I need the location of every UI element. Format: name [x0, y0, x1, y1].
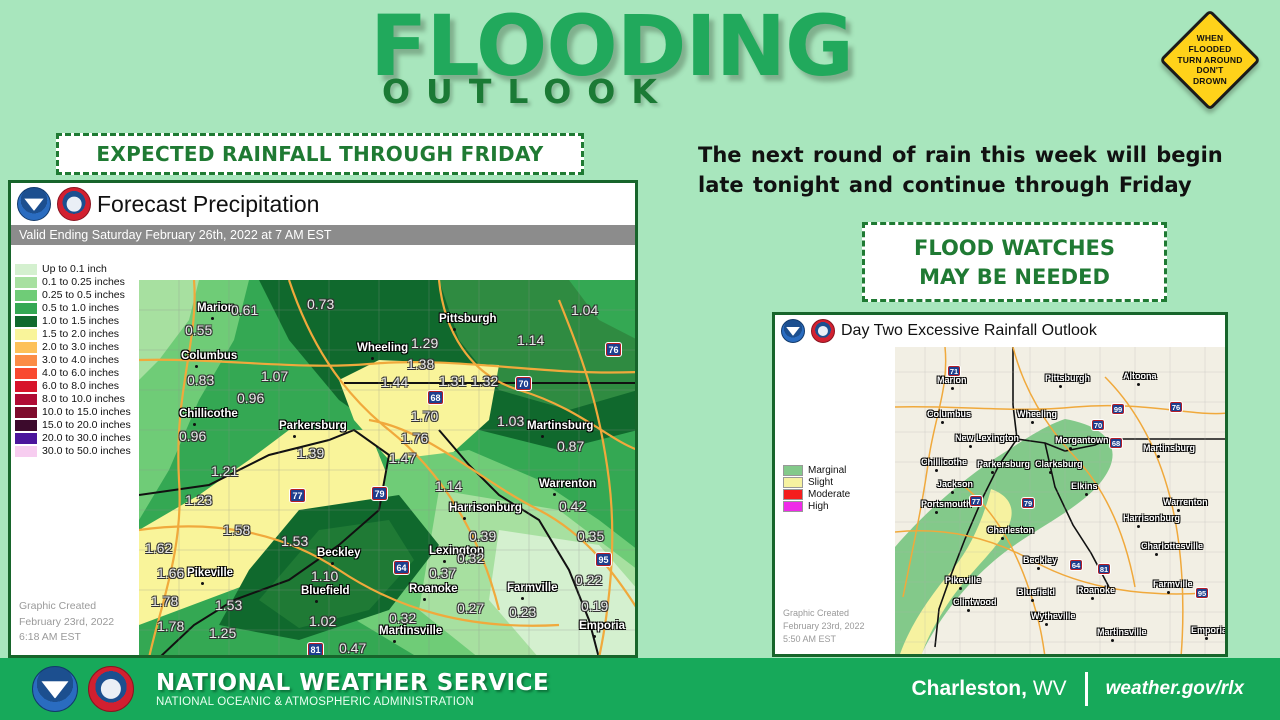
city-label: Beckley	[317, 547, 360, 559]
legend-swatch	[783, 489, 803, 500]
precipitation-value: 0.19	[581, 598, 608, 614]
city-marker-dot	[423, 598, 426, 601]
legend-row: 20.0 to 30.0 inches	[15, 432, 135, 444]
legend-label: Up to 0.1 inch	[42, 263, 107, 275]
flood-watches-line-1: FLOOD WATCHES	[914, 236, 1115, 260]
ero-map-header: Day Two Excessive Rainfall Outlook	[775, 315, 1225, 347]
legend-label: High	[808, 501, 829, 512]
city-label: Bluefield	[1017, 587, 1055, 597]
city-marker-dot	[951, 491, 954, 494]
agency-text: NATIONAL WEATHER SERVICE NATIONAL OCEANI…	[156, 670, 549, 708]
city-marker-dot	[1155, 553, 1158, 556]
precipitation-value: 0.37	[429, 565, 456, 581]
expected-rainfall-callout: EXPECTED RAINFALL THROUGH FRIDAY	[56, 133, 584, 175]
city-label: Clarksburg	[1035, 459, 1083, 469]
city-marker-dot	[991, 471, 994, 474]
city-marker-dot	[201, 582, 204, 585]
city-marker-dot	[1205, 637, 1208, 640]
city-label: Charlottesville	[1141, 541, 1203, 551]
precipitation-value: 1.78	[151, 593, 178, 609]
city-label: Altoona	[1123, 371, 1157, 381]
city-marker-dot	[935, 511, 938, 514]
city-label: Elkins	[1071, 481, 1098, 491]
city-marker-dot	[463, 517, 466, 520]
footer-bar: NATIONAL WEATHER SERVICE NATIONAL OCEANI…	[0, 658, 1280, 720]
legend-row: 1.5 to 2.0 inches	[15, 328, 135, 340]
legend-label: 0.1 to 0.25 inches	[42, 276, 125, 288]
city-marker-dot	[941, 421, 944, 424]
city-label: Jackson	[937, 479, 973, 489]
precipitation-value: 1.32	[471, 373, 498, 389]
ero-created-line-1: Graphic Created	[783, 607, 865, 620]
sign-line-3: TURN AROUND	[1177, 55, 1242, 66]
city-label: Chillicothe	[179, 408, 238, 420]
precipitation-value: 1.70	[411, 408, 438, 424]
city-marker-dot	[293, 435, 296, 438]
legend-label: 1.5 to 2.0 inches	[42, 328, 119, 340]
precipitation-value: 0.83	[187, 372, 214, 388]
legend-row: Slight	[783, 477, 895, 488]
footer-branding: NATIONAL WEATHER SERVICE NATIONAL OCEANI…	[0, 666, 549, 712]
nws-logo-icon	[57, 187, 91, 221]
interstate-shield-icon: 70	[1091, 419, 1105, 431]
legend-swatch	[15, 290, 37, 301]
legend-row: Moderate	[783, 489, 895, 500]
qpf-map-canvas: MarionColumbusChillicothePittsburghWheel…	[139, 280, 638, 658]
precipitation-value: 1.78	[157, 618, 184, 634]
precipitation-value: 0.96	[237, 390, 264, 406]
city-marker-dot	[211, 317, 214, 320]
interstate-shield-icon: 70	[515, 376, 532, 391]
legend-swatch	[15, 381, 37, 392]
city-label: Beckley	[1023, 555, 1057, 565]
city-marker-dot	[1137, 383, 1140, 386]
city-label: Roanoke	[409, 583, 458, 595]
city-marker-dot	[1059, 385, 1062, 388]
qpf-created-stamp: Graphic Created February 23rd, 2022 6:18…	[19, 599, 114, 645]
interstate-shield-icon: 71	[947, 365, 961, 377]
nws-logo-icon	[88, 666, 134, 712]
city-marker-dot	[1049, 471, 1052, 474]
legend-label: Moderate	[808, 489, 850, 500]
city-marker-dot	[193, 423, 196, 426]
city-label: Warrenton	[539, 478, 596, 490]
city-marker-dot	[969, 445, 972, 448]
legend-row: 30.0 to 50.0 inches	[15, 445, 135, 457]
interstate-shield-icon: 64	[393, 560, 410, 575]
turn-around-dont-drown-sign: WHEN FLOODED TURN AROUND DON'T DROWN	[1158, 8, 1262, 112]
legend-swatch	[15, 342, 37, 353]
legend-label: 3.0 to 4.0 inches	[42, 354, 119, 366]
legend-row: 0.1 to 0.25 inches	[15, 276, 135, 288]
legend-row: 15.0 to 20.0 inches	[15, 419, 135, 431]
city-marker-dot	[443, 560, 446, 563]
city-label: Bluefield	[301, 585, 350, 597]
interstate-shield-icon: 81	[1097, 563, 1111, 575]
legend-swatch	[15, 420, 37, 431]
city-marker-dot	[1069, 447, 1072, 450]
interstate-shield-icon: 64	[1069, 559, 1083, 571]
legend-swatch	[783, 465, 803, 476]
legend-label: Slight	[808, 477, 833, 488]
city-label: Wytheville	[1031, 611, 1075, 621]
noaa-logo-icon	[781, 319, 805, 343]
legend-swatch	[15, 394, 37, 405]
precipitation-value: 1.44	[381, 374, 408, 390]
city-label: Pittsburgh	[1045, 373, 1090, 383]
legend-row: 3.0 to 4.0 inches	[15, 354, 135, 366]
city-marker-dot	[951, 387, 954, 390]
precipitation-value: 1.10	[311, 568, 338, 584]
precipitation-value: 1.25	[209, 625, 236, 641]
legend-row: 2.0 to 3.0 inches	[15, 341, 135, 353]
city-label: Wheeling	[1017, 409, 1057, 419]
precipitation-value: 0.39	[469, 528, 496, 544]
noaa-logo-icon	[17, 187, 51, 221]
legend-label: 0.25 to 0.5 inches	[42, 289, 125, 301]
office-location: Charleston, WV	[911, 677, 1066, 701]
legend-swatch	[15, 446, 37, 457]
interstate-shield-icon: 76	[605, 342, 622, 357]
flood-watches-callout: FLOOD WATCHES MAY BE NEEDED	[862, 222, 1167, 302]
ero-created-line-3: 5:50 AM EST	[783, 633, 865, 646]
qpf-valid-time: Valid Ending Saturday February 26th, 202…	[11, 225, 635, 245]
legend-label: 10.0 to 15.0 inches	[42, 406, 131, 418]
city-label: Pikeville	[945, 575, 981, 585]
precipitation-value: 1.66	[157, 565, 184, 581]
office-city: Charleston,	[911, 677, 1027, 700]
qpf-created-line-1: Graphic Created	[19, 599, 114, 614]
city-label: Farmville	[1153, 579, 1193, 589]
city-label: Marion	[197, 302, 235, 314]
precipitation-value: 0.32	[457, 550, 484, 566]
legend-swatch	[15, 368, 37, 379]
precipitation-value: 1.14	[517, 332, 544, 348]
legend-row: Up to 0.1 inch	[15, 263, 135, 275]
page-title-block: FLOODING OUTLOOK	[370, 4, 930, 119]
excessive-rainfall-outlook-panel: Day Two Excessive Rainfall Outlook Margi…	[772, 312, 1228, 657]
precipitation-value: 1.07	[261, 368, 288, 384]
city-label: Harrisonburg	[1123, 513, 1180, 523]
city-marker-dot	[1091, 597, 1094, 600]
legend-label: 15.0 to 20.0 inches	[42, 419, 131, 431]
sign-line-2: FLOODED	[1189, 44, 1232, 55]
office-state: WV	[1033, 677, 1067, 700]
agency-name: NATIONAL WEATHER SERVICE	[156, 670, 549, 696]
precipitation-value: 0.96	[179, 428, 206, 444]
precipitation-value: 1.47	[389, 450, 416, 466]
legend-swatch	[783, 501, 803, 512]
city-label: Harrisonburg	[449, 502, 522, 514]
footer-divider	[1085, 672, 1088, 706]
interstate-shield-icon: 77	[969, 495, 983, 507]
legend-label: Marginal	[808, 465, 846, 476]
city-marker-dot	[1045, 623, 1048, 626]
city-marker-dot	[553, 493, 556, 496]
expected-rainfall-label: EXPECTED RAINFALL THROUGH FRIDAY	[96, 142, 543, 166]
legend-row: 8.0 to 10.0 inches	[15, 393, 135, 405]
precipitation-value: 0.61	[231, 302, 258, 318]
city-label: Farmville	[507, 582, 558, 594]
precipitation-value: 1.31	[439, 373, 466, 389]
interstate-shield-icon: 68	[1109, 437, 1123, 449]
legend-label: 2.0 to 3.0 inches	[42, 341, 119, 353]
interstate-shield-icon: 95	[1195, 587, 1209, 599]
ero-created-line-2: February 23rd, 2022	[783, 620, 865, 633]
precipitation-value: 0.42	[559, 498, 586, 514]
office-website[interactable]: weather.gov/rlx	[1106, 678, 1244, 700]
precipitation-value: 1.23	[185, 492, 212, 508]
city-marker-dot	[371, 357, 374, 360]
footer-office-info: Charleston, WV weather.gov/rlx	[911, 672, 1280, 706]
legend-label: 1.0 to 1.5 inches	[42, 315, 119, 327]
legend-row: 10.0 to 15.0 inches	[15, 406, 135, 418]
precipitation-value: 1.21	[211, 463, 238, 479]
precipitation-value: 0.27	[457, 600, 484, 616]
precipitation-value: 0.22	[575, 572, 602, 588]
city-label: Columbus	[181, 350, 237, 362]
legend-row: High	[783, 501, 895, 512]
forecast-summary-text: The next round of rain this week will be…	[698, 140, 1258, 201]
city-marker-dot	[1085, 493, 1088, 496]
city-marker-dot	[393, 640, 396, 643]
city-label: Martinsville	[379, 625, 442, 637]
summary-line-2: late tonight and continue through Friday	[698, 170, 1258, 200]
city-marker-dot	[521, 597, 524, 600]
city-marker-dot	[541, 435, 544, 438]
precipitation-value: 1.58	[223, 522, 250, 538]
ero-legend: MarginalSlightModerateHigh	[783, 465, 895, 513]
city-label: Chillicothe	[921, 457, 967, 467]
legend-row: 0.25 to 0.5 inches	[15, 289, 135, 301]
page-subtitle: OUTLOOK	[382, 72, 673, 111]
legend-swatch	[783, 477, 803, 488]
interstate-shield-icon: 99	[1111, 403, 1125, 415]
city-marker-dot	[1157, 455, 1160, 458]
city-label: Portsmouth	[921, 499, 972, 509]
interstate-shield-icon: 68	[427, 390, 444, 405]
legend-label: 4.0 to 6.0 inches	[42, 367, 119, 379]
legend-label: 20.0 to 30.0 inches	[42, 432, 131, 444]
precipitation-value: 1.62	[145, 540, 172, 556]
city-marker-dot	[593, 635, 596, 638]
city-label: Columbus	[927, 409, 971, 419]
city-marker-dot	[967, 609, 970, 612]
city-label: Roanoke	[1077, 585, 1115, 595]
sign-line-4: DON'T	[1196, 65, 1223, 76]
legend-swatch	[15, 264, 37, 275]
city-marker-dot	[1137, 525, 1140, 528]
city-label: Parkersburg	[977, 459, 1030, 469]
precipitation-value: 0.35	[577, 528, 604, 544]
city-label: Pittsburgh	[439, 313, 497, 325]
city-label: Emporia	[1191, 625, 1227, 635]
sign-line-5: DROWN	[1193, 76, 1227, 87]
precipitation-value: 1.03	[497, 413, 524, 429]
city-marker-dot	[331, 562, 334, 565]
precipitation-value: 0.47	[339, 640, 366, 656]
legend-label: 8.0 to 10.0 inches	[42, 393, 125, 405]
qpf-map-header: Forecast Precipitation	[11, 183, 635, 225]
city-marker-dot	[1031, 599, 1034, 602]
nws-logo-icon	[811, 319, 835, 343]
city-label: Warrenton	[1163, 497, 1208, 507]
city-label: Clintwood	[953, 597, 997, 607]
city-marker-dot	[959, 587, 962, 590]
city-marker-dot	[1037, 567, 1040, 570]
ero-map-canvas: MarionColumbusNew LexingtonChillicotheJa…	[895, 347, 1228, 657]
legend-swatch	[15, 277, 37, 288]
sign-line-1: WHEN	[1197, 33, 1224, 44]
city-label: Emporia	[579, 620, 625, 632]
interstate-shield-icon: 76	[1169, 401, 1183, 413]
legend-swatch	[15, 433, 37, 444]
city-marker-dot	[1177, 509, 1180, 512]
warning-sign-text: WHEN FLOODED TURN AROUND DON'T DROWN	[1158, 8, 1262, 112]
precipitation-value: 1.38	[407, 356, 434, 372]
qpf-created-line-3: 6:18 AM EST	[19, 630, 114, 645]
precipitation-value: 1.76	[401, 430, 428, 446]
interstate-shield-icon: 81	[307, 642, 324, 657]
legend-row: 6.0 to 8.0 inches	[15, 380, 135, 392]
precipitation-value: 1.53	[281, 533, 308, 549]
qpf-map-title: Forecast Precipitation	[97, 191, 319, 218]
precipitation-value: 0.73	[307, 296, 334, 312]
city-label: Charleston	[987, 525, 1034, 535]
city-label: Martinsville	[1097, 627, 1147, 637]
city-marker-dot	[935, 469, 938, 472]
city-marker-dot	[1001, 537, 1004, 540]
precipitation-value: 1.14	[435, 478, 462, 494]
legend-swatch	[15, 316, 37, 327]
precipitation-value: 0.87	[557, 438, 584, 454]
legend-swatch	[15, 407, 37, 418]
city-marker-dot	[315, 600, 318, 603]
city-label: Pikeville	[187, 567, 233, 579]
interstate-shield-icon: 79	[371, 486, 388, 501]
city-label: Parkersburg	[279, 420, 347, 432]
forecast-precipitation-panel: Forecast Precipitation Valid Ending Satu…	[8, 180, 638, 658]
city-label: Wheeling	[357, 342, 408, 354]
precipitation-value: 0.55	[185, 322, 212, 338]
city-marker-dot	[195, 365, 198, 368]
legend-row: 4.0 to 6.0 inches	[15, 367, 135, 379]
summary-line-1: The next round of rain this week will be…	[698, 140, 1258, 170]
qpf-legend: Up to 0.1 inch0.1 to 0.25 inches0.25 to …	[11, 258, 139, 658]
precipitation-value: 1.53	[215, 597, 242, 613]
precipitation-value: 0.32	[389, 610, 416, 626]
legend-swatch	[15, 355, 37, 366]
city-label: Martinsburg	[1143, 443, 1195, 453]
interstate-shield-icon: 77	[289, 488, 306, 503]
ero-map-title: Day Two Excessive Rainfall Outlook	[841, 322, 1097, 340]
legend-label: 30.0 to 50.0 inches	[42, 445, 131, 457]
legend-swatch	[15, 303, 37, 314]
legend-label: 0.5 to 1.0 inches	[42, 302, 119, 314]
agency-subtitle: NATIONAL OCEANIC & ATMOSPHERIC ADMINISTR…	[156, 696, 549, 708]
city-marker-dot	[453, 328, 456, 331]
legend-row: Marginal	[783, 465, 895, 476]
interstate-shield-icon: 95	[595, 552, 612, 567]
precipitation-value: 1.02	[309, 613, 336, 629]
qpf-created-line-2: February 23rd, 2022	[19, 615, 114, 630]
city-marker-dot	[1167, 591, 1170, 594]
city-marker-dot	[1031, 421, 1034, 424]
precipitation-value: 1.04	[571, 302, 598, 318]
city-label: Martinsburg	[527, 420, 593, 432]
noaa-logo-icon	[32, 666, 78, 712]
city-label: New Lexington	[955, 433, 1019, 443]
precipitation-value: 0.23	[509, 604, 536, 620]
legend-row: 1.0 to 1.5 inches	[15, 315, 135, 327]
legend-label: 6.0 to 8.0 inches	[42, 380, 119, 392]
ero-created-stamp: Graphic Created February 23rd, 2022 5:50…	[783, 607, 865, 646]
legend-row: 0.5 to 1.0 inches	[15, 302, 135, 314]
city-label: Morgantown	[1055, 435, 1109, 445]
precipitation-value: 1.39	[297, 445, 324, 461]
legend-swatch	[15, 329, 37, 340]
interstate-shield-icon: 79	[1021, 497, 1035, 509]
city-marker-dot	[1111, 639, 1114, 642]
precipitation-value: 1.29	[411, 335, 438, 351]
flood-watches-line-2: MAY BE NEEDED	[919, 265, 1110, 289]
